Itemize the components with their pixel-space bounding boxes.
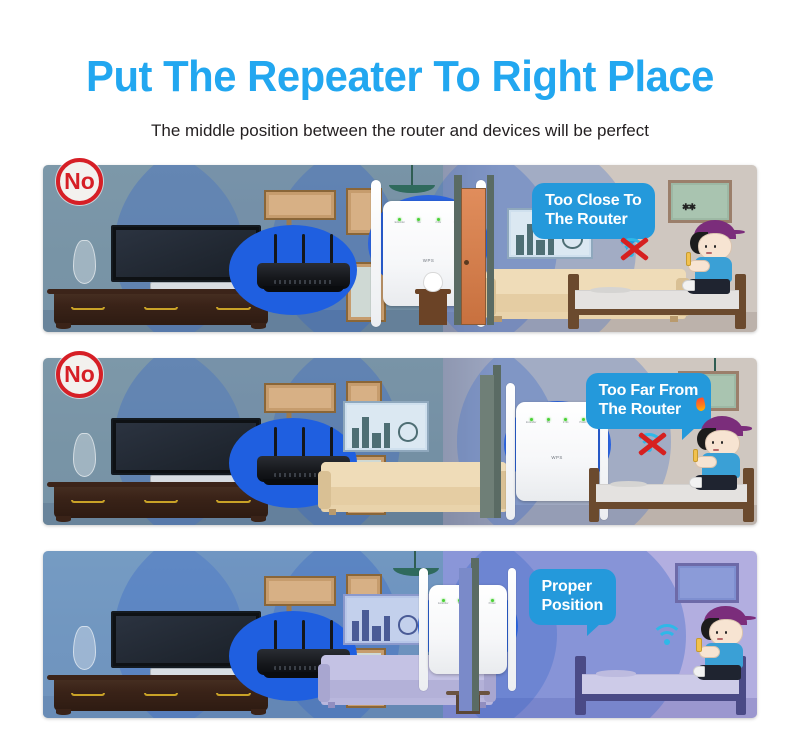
door-frame (471, 558, 478, 712)
tv-console (54, 482, 268, 519)
person-cap-brim (737, 616, 756, 620)
pendant-lamp-rod (411, 165, 413, 187)
city-silhouette (372, 433, 381, 447)
door-knob (464, 260, 469, 265)
person-cap-brim (727, 230, 746, 234)
wifi-icon-blocked (632, 433, 666, 453)
no-badge-panel-1: No (56, 158, 103, 205)
person-eye (712, 441, 714, 444)
person-shoe (693, 666, 706, 677)
drawer-handle (71, 307, 105, 310)
scenario-panel-proper-position: Extender 5G 2.4G Power WPS (43, 551, 757, 718)
person-on-bed (696, 606, 753, 679)
door-frame-right (487, 175, 494, 325)
tv-console (54, 289, 268, 326)
router-base (263, 286, 345, 291)
router-antenna (274, 427, 277, 458)
repeater-led-24g: 2.4G (429, 218, 448, 225)
drawer-handle (144, 307, 178, 310)
no-badge-panel-2: No (56, 351, 103, 398)
router-antenna (330, 620, 333, 651)
bed-base (582, 694, 739, 701)
console-leg (56, 516, 71, 522)
anger-marks-icon: ✱✱ (682, 203, 695, 212)
drawer-handle (216, 500, 250, 503)
sofa-leg (328, 702, 335, 708)
repeater-led-extender: Extender (435, 599, 451, 606)
repeater-antenna-left (506, 383, 515, 520)
city-silhouette (362, 610, 368, 640)
person-phone (693, 449, 699, 462)
drawer-handle (144, 500, 178, 503)
person-eye (725, 631, 727, 634)
person-mouth (713, 449, 719, 451)
bedroom-window (675, 563, 739, 603)
city-silhouette (372, 626, 381, 640)
page-title: Put The Repeater To Right Place (20, 52, 780, 102)
person-eye (716, 631, 718, 634)
sofa-seat (327, 487, 502, 505)
city-silhouette (352, 428, 360, 447)
cityscape-image (347, 405, 425, 447)
router-antenna (302, 620, 305, 651)
bed-base (575, 309, 738, 316)
repeater-antenna-left (419, 568, 427, 692)
repeater-led-power: Power (484, 599, 500, 606)
city-silhouette (384, 423, 389, 447)
window-pane (673, 185, 727, 218)
person-eye (721, 441, 723, 444)
person-mouth (717, 638, 723, 640)
person-shoe (682, 280, 695, 291)
wifi-router (257, 235, 350, 288)
console-leg (56, 709, 71, 715)
plant-vase (423, 272, 443, 292)
person-arm (688, 260, 710, 272)
repeater-led-5g: 5G (540, 418, 557, 425)
bed-pillow (590, 287, 631, 294)
decorative-vase (73, 433, 96, 476)
person-phone (686, 252, 692, 265)
speech-bubble-too-close: Too Close To The Router (532, 183, 655, 239)
decorative-vase (73, 626, 96, 669)
router-antenna (330, 234, 333, 265)
router-antenna (302, 427, 305, 458)
wall-art-lampshade (264, 576, 335, 606)
drawer-handle (71, 693, 105, 696)
person-mouth (706, 252, 712, 254)
wifi-icon-blocked (614, 238, 648, 258)
person-phone (696, 638, 702, 651)
drawer-handle (144, 693, 178, 696)
side-table (419, 289, 448, 326)
console-leg (251, 516, 266, 522)
speech-bubble-proper-position: Proper Position (529, 569, 617, 625)
person-cap-brim (734, 426, 753, 430)
repeater-wps-label: WPS (516, 455, 598, 460)
wall-art-lampshade (264, 383, 335, 413)
sofa-arm-left (318, 471, 331, 509)
wall-art-lampshade (264, 190, 335, 220)
sofa-leg (494, 316, 502, 322)
decorative-vase (73, 240, 96, 283)
router-antenna (274, 620, 277, 651)
sofa-arm-left (318, 664, 330, 702)
pendant-lamp-rod (414, 551, 416, 569)
wall-art-inner (269, 388, 330, 408)
sofa-leg (479, 702, 486, 708)
repeater-led-5g: 5G (409, 218, 428, 225)
wall-art-inner (269, 195, 330, 215)
bedroom-window (668, 180, 732, 223)
drawer-handle (216, 693, 250, 696)
repeater-led-24g: 2.4G (557, 418, 574, 425)
bed-base (596, 502, 747, 508)
person-shoe (689, 477, 702, 488)
scenario-panel-too-far: Extender 5G 2.4G Power WPS (43, 358, 757, 525)
sofa-leg (329, 509, 336, 515)
router-antenna (302, 234, 305, 265)
tv-console (54, 675, 268, 712)
console-leg (251, 709, 266, 715)
wall-art-inner (269, 581, 330, 601)
door (459, 568, 472, 712)
window-pane (680, 568, 734, 598)
page-subtitle: The middle position between the router a… (0, 121, 800, 141)
wifi-dot (628, 251, 634, 257)
console-leg (56, 323, 71, 329)
console-leg (251, 323, 266, 329)
repeater-led-extender: Extender (523, 418, 540, 425)
router-body (257, 263, 350, 289)
repeater-led-extender: Extender (390, 218, 409, 225)
wifi-icon-good (650, 624, 684, 646)
door (461, 188, 487, 325)
wifi-dot (664, 639, 670, 645)
repeater-antenna-left (371, 180, 381, 327)
repeater-antenna-right (508, 568, 516, 692)
ferris-wheel-icon (398, 422, 418, 441)
bed-pillow (596, 670, 635, 677)
router-antenna (330, 427, 333, 458)
scenario-panel-too-close: Extender 5G 2.4G Power WPS (43, 165, 757, 332)
repeater-led-row: Extender 5G 2.4G Power (523, 418, 592, 425)
city-silhouette (352, 621, 360, 640)
router-antenna (274, 234, 277, 265)
drawer-handle (216, 307, 250, 310)
person-on-bed (686, 220, 743, 293)
person-arm (695, 456, 717, 468)
city-silhouette (384, 616, 389, 640)
wall-art-cityscape (343, 401, 429, 451)
person-on-bed (693, 416, 750, 489)
person-eye (705, 245, 707, 248)
city-silhouette (536, 240, 545, 254)
wifi-dot (646, 446, 652, 452)
person-eye (714, 245, 716, 248)
city-silhouette (516, 235, 524, 254)
city-silhouette (362, 417, 368, 447)
drawer-handle (71, 500, 105, 503)
